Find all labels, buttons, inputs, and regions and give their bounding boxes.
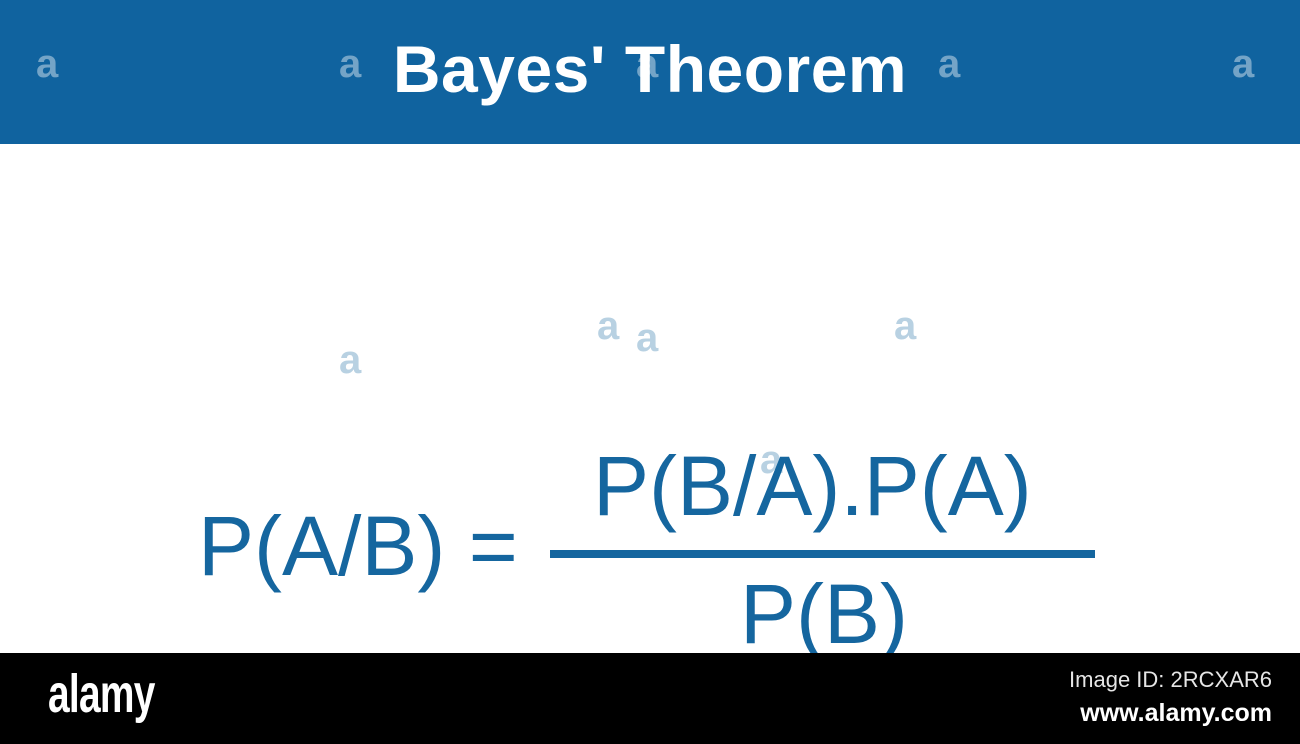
formula-left-hand-side: P(A/B) = — [198, 504, 518, 588]
screenshot-root: Bayes' Theorem a a a a a P(A/B) = P(B/A)… — [0, 0, 1300, 744]
header-banner: Bayes' Theorem a a a a a — [0, 0, 1300, 144]
watermark-a-icon: a — [339, 340, 361, 380]
alamy-url-link[interactable]: www.alamy.com — [1080, 701, 1272, 726]
alamy-logo: alamy — [48, 667, 155, 721]
formula-canvas: P(A/B) = P(B/A).P(A) P(B) a a a a a — [0, 144, 1300, 653]
formula-denominator: P(B) — [740, 572, 908, 656]
footer-bar: alamy Image ID: 2RCXAR6 www.alamy.com — [0, 653, 1300, 744]
watermark-a-icon: a — [636, 318, 658, 358]
fraction-bar — [550, 550, 1095, 558]
watermark-a-icon: a — [894, 306, 916, 346]
page-title: Bayes' Theorem — [0, 0, 1300, 144]
formula-numerator: P(B/A).P(A) — [593, 444, 1032, 528]
watermark-a-icon: a — [597, 306, 619, 346]
image-id-label: Image ID: 2RCXAR6 — [1069, 669, 1272, 691]
